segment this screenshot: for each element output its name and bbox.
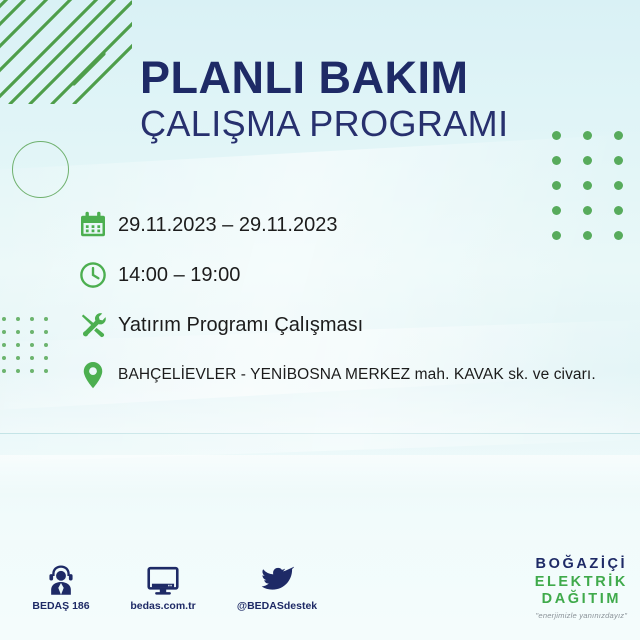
diagonal-stripes-decoration [0, 0, 132, 104]
planned-maintenance-poster: PLANLI BAKIM ÇALIŞMA PROGRAMI [0, 0, 640, 640]
footer-label-website: bedas.com.tr [130, 600, 195, 612]
logo-line-elektrik: ELEKTRİK [535, 574, 628, 592]
maintenance-details-list: 29.11.2023 – 29.11.2023 14:00 – 19:00 [78, 200, 618, 400]
monitor-icon [147, 562, 179, 596]
contact-footer: BEDAŞ 186 bedas.com.tr [24, 562, 348, 612]
detail-row-date: 29.11.2023 – 29.11.2023 [78, 200, 618, 250]
detail-location: BAHÇELİEVLER - YENİBOSNA MERKEZ mah. KAV… [118, 366, 596, 384]
footer-item-phone[interactable]: BEDAŞ 186 [24, 562, 98, 612]
detail-row-work-type: Yatırım Programı Çalışması [78, 300, 618, 350]
poster-heading: PLANLI BAKIM ÇALIŞMA PROGRAMI [140, 55, 560, 144]
footer-label-phone: BEDAŞ 186 [32, 600, 89, 612]
bedas-logo: BOĞAZİÇİ ELEKTRİK DAĞITIM "enerjimizle y… [535, 556, 628, 620]
footer-label-twitter: @BEDASdestek [237, 600, 317, 612]
detail-row-location: BAHÇELİEVLER - YENİBOSNA MERKEZ mah. KAV… [78, 350, 618, 400]
support-agent-icon [46, 562, 76, 596]
footer-item-website[interactable]: bedas.com.tr [120, 562, 206, 612]
logo-line-dagitim: DAĞITIM [535, 591, 628, 609]
footer-item-twitter[interactable]: @BEDASdestek [228, 562, 326, 612]
background-horizon-line [0, 433, 640, 434]
tools-icon [78, 310, 118, 340]
logo-line-bogazici: BOĞAZİÇİ [535, 556, 628, 574]
dot-grid-left [2, 317, 62, 373]
page-subtitle: ÇALIŞMA PROGRAMI [140, 104, 560, 144]
twitter-bird-icon [260, 562, 294, 596]
detail-time-range: 14:00 – 19:00 [118, 264, 240, 287]
clock-icon [78, 260, 118, 290]
detail-work-type: Yatırım Programı Çalışması [118, 314, 363, 337]
map-pin-icon [78, 360, 118, 390]
detail-row-time: 14:00 – 19:00 [78, 250, 618, 300]
logo-tagline: "enerjimizle yanınızdayız" [535, 611, 628, 620]
page-title: PLANLI BAKIM [140, 55, 560, 100]
detail-date-range: 29.11.2023 – 29.11.2023 [118, 214, 337, 237]
background-soft-highlight [0, 455, 640, 495]
circle-outline-decoration [12, 141, 69, 198]
calendar-icon [78, 210, 118, 240]
